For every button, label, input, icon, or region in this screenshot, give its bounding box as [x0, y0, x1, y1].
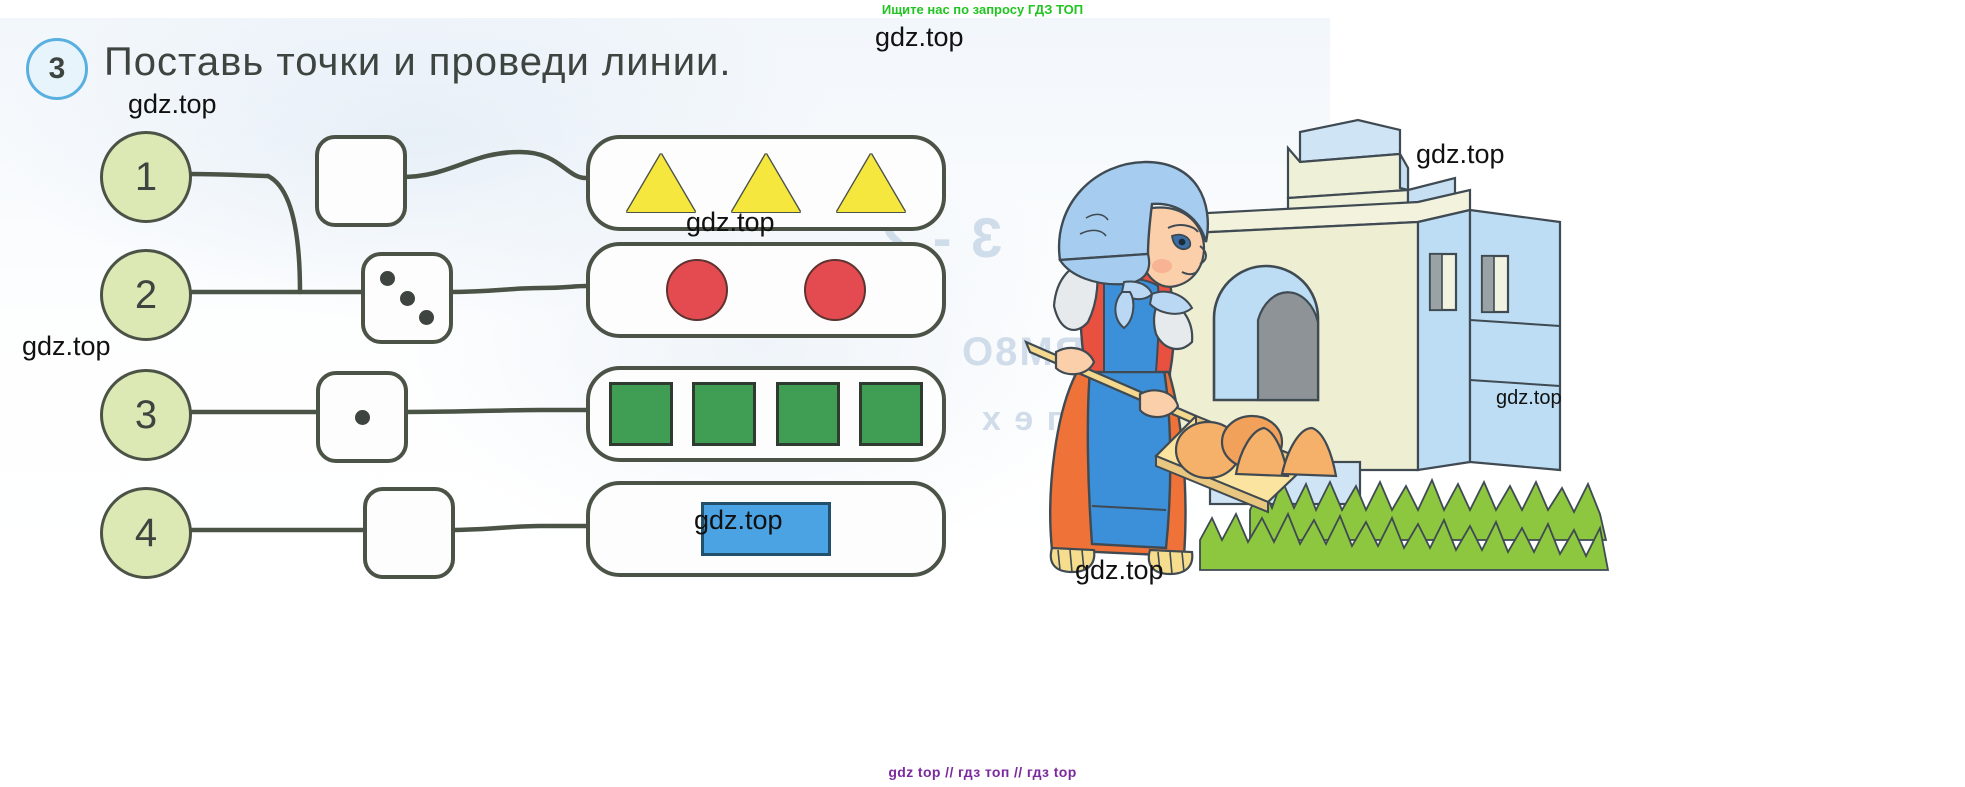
link-dice-blank-top-to-triangles: [401, 152, 586, 178]
link-dice-blank-bottom-to-rectangle: [449, 526, 586, 530]
number-circle-1[interactable]: 1: [100, 131, 192, 223]
triangle-shape: [732, 154, 800, 212]
dice-blank-top[interactable]: [315, 135, 407, 227]
task-title: Поставь точки и проведи линии.: [104, 40, 732, 85]
number-circle-2[interactable]: 2: [100, 249, 192, 341]
triangle-shape: [627, 154, 695, 212]
dice-blank-bottom[interactable]: [363, 487, 455, 579]
task-number-badge: 3: [26, 38, 88, 100]
link-1-to-dice-blank-top: [188, 174, 268, 176]
number-circle-3[interactable]: 3: [100, 369, 192, 461]
dice-pip: [380, 271, 395, 286]
number-circle-label: 2: [135, 273, 157, 318]
number-circle-label: 3: [135, 393, 157, 438]
triangles-row[interactable]: [586, 135, 946, 231]
illustration-baker-woman: [1000, 70, 1610, 610]
number-circle-label: 1: [135, 155, 157, 200]
number-circle-4[interactable]: 4: [100, 487, 192, 579]
dice-one[interactable]: [316, 371, 408, 463]
squares-row[interactable]: [586, 366, 946, 462]
dice-pip: [400, 291, 415, 306]
top-watermark-text: Ищите нас по запросу ГДЗ ТОП: [882, 2, 1083, 17]
circle-shape: [666, 259, 728, 321]
link-curve-helper-b: [293, 136, 316, 412]
square-shape: [776, 382, 840, 446]
link-dice-three-to-circles: [447, 286, 586, 292]
dice-three[interactable]: [361, 252, 453, 344]
link-dice-one-to-squares: [402, 410, 586, 412]
square-shape: [692, 382, 756, 446]
bottom-watermark-bar: gdz top // гдз топ // гдз top: [0, 761, 1965, 783]
circles-row[interactable]: [586, 242, 946, 338]
dice-pip: [419, 310, 434, 325]
triangle-shape: [837, 154, 905, 212]
top-watermark-bar: Ищите нас по запросу ГДЗ ТОП: [0, 0, 1965, 18]
number-circle-label: 4: [135, 511, 157, 556]
rectangle-shape: [701, 502, 831, 556]
dice-pip: [355, 410, 370, 425]
square-shape: [609, 382, 673, 446]
circle-shape: [804, 259, 866, 321]
square-shape: [859, 382, 923, 446]
rectangle-row[interactable]: [586, 481, 946, 577]
bottom-watermark-text: gdz top // гдз топ // гдз top: [888, 764, 1076, 780]
